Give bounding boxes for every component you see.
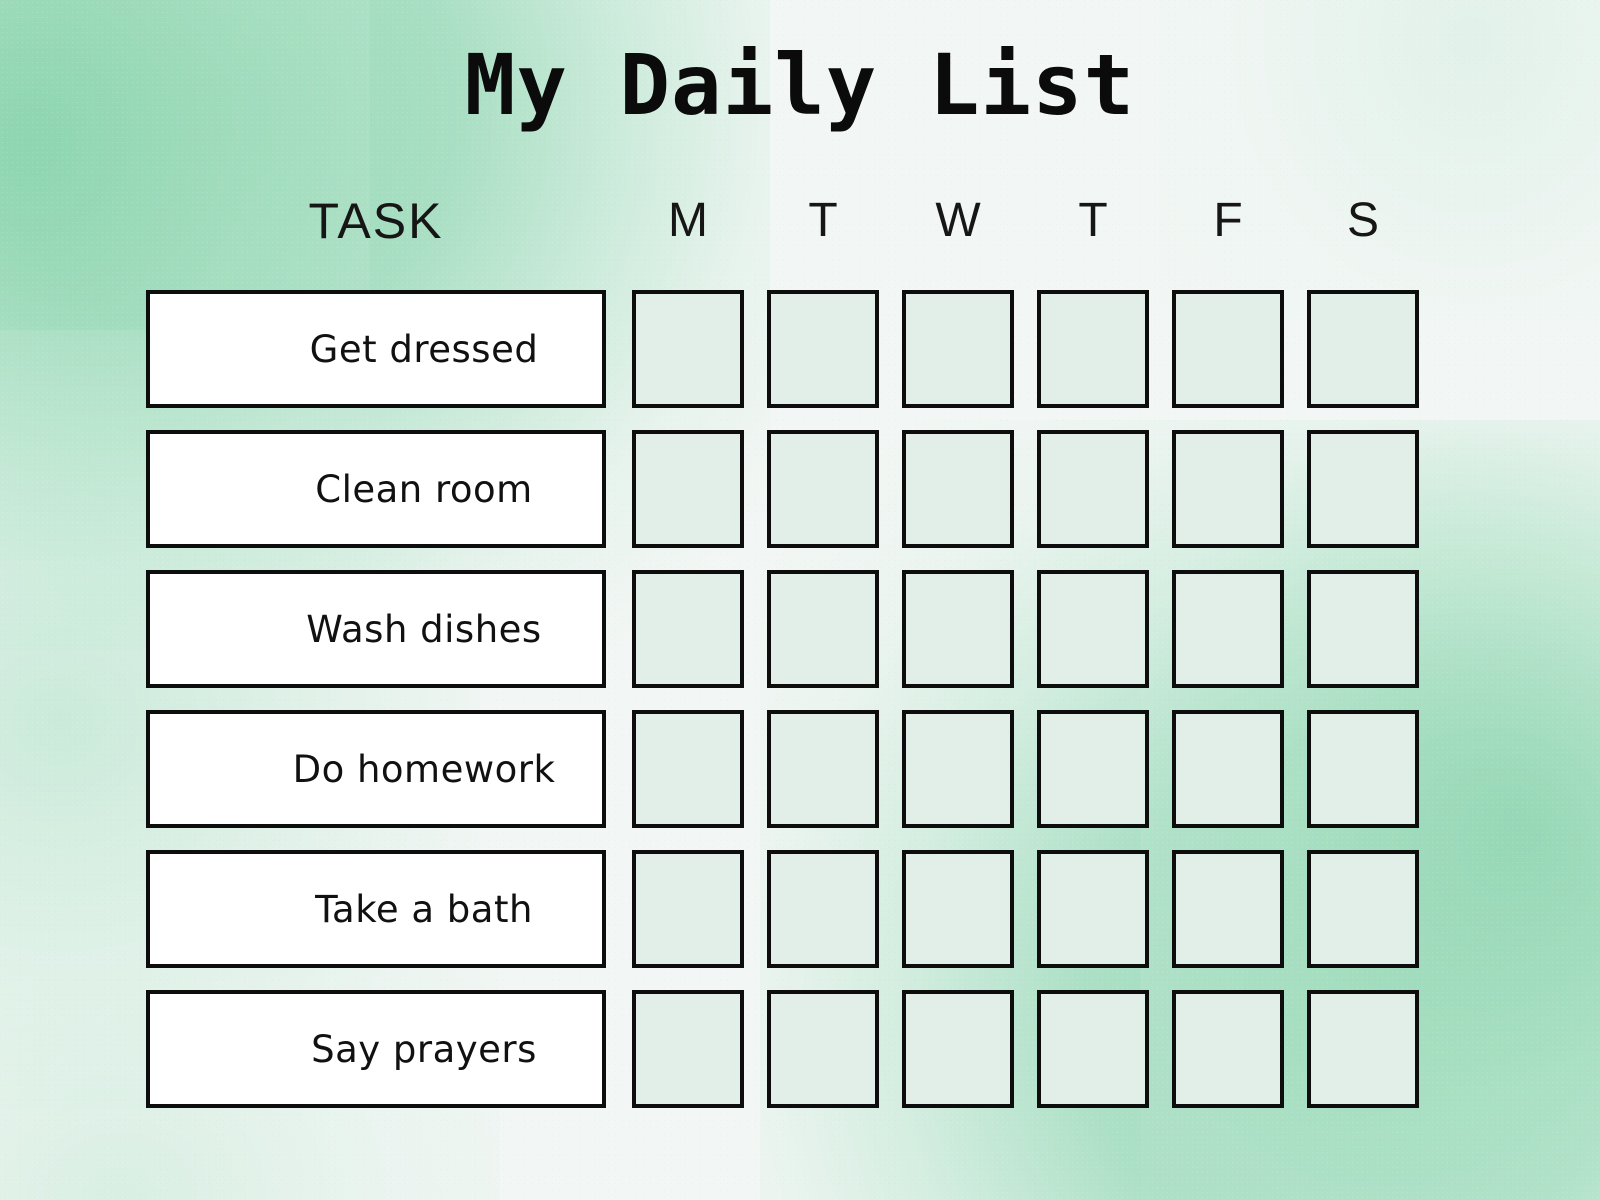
checkbox-cell[interactable]	[767, 570, 879, 688]
checkbox-cell[interactable]	[632, 710, 744, 828]
table-header-row: TASK MTWTFS	[146, 192, 1452, 254]
checkbox-cell[interactable]	[1037, 850, 1149, 968]
checkbox-cell[interactable]	[1172, 570, 1284, 688]
checkbox-cell[interactable]	[1037, 570, 1149, 688]
table-row: Do homework	[146, 710, 1452, 828]
checkbox-cell[interactable]	[1307, 430, 1419, 548]
task-name-cell[interactable]: Get dressed	[146, 290, 606, 408]
checkbox-cell[interactable]	[1307, 570, 1419, 688]
checkbox-cell[interactable]	[767, 430, 879, 548]
checkbox-cell[interactable]	[902, 850, 1014, 968]
checkbox-cell[interactable]	[1307, 850, 1419, 968]
checkbox-cell[interactable]	[902, 990, 1014, 1108]
daily-checklist-page: My Daily List TASK MTWTFS Get dressedCle…	[0, 0, 1600, 1200]
checkbox-cell[interactable]	[1037, 290, 1149, 408]
task-label: Say prayers	[215, 1028, 537, 1071]
checkbox-cell[interactable]	[1172, 710, 1284, 828]
checkbox-cell[interactable]	[632, 990, 744, 1108]
checkbox-cell[interactable]	[902, 710, 1014, 828]
table-row: Say prayers	[146, 990, 1452, 1108]
checkbox-cell[interactable]	[632, 290, 744, 408]
task-label: Take a bath	[219, 888, 533, 931]
task-label: Do homework	[197, 748, 556, 791]
checkbox-cell[interactable]	[767, 290, 879, 408]
day-header-2: T	[767, 192, 879, 250]
task-name-cell[interactable]: Take a bath	[146, 850, 606, 968]
checkbox-cell[interactable]	[632, 570, 744, 688]
day-header-4: T	[1037, 192, 1149, 250]
checkbox-cell[interactable]	[1172, 850, 1284, 968]
checkbox-cell[interactable]	[767, 850, 879, 968]
task-label: Wash dishes	[210, 608, 541, 651]
checkbox-cell[interactable]	[1037, 990, 1149, 1108]
day-header-6: S	[1307, 192, 1419, 250]
task-name-cell[interactable]: Wash dishes	[146, 570, 606, 688]
checkbox-cell[interactable]	[1172, 990, 1284, 1108]
task-label: Clean room	[219, 468, 532, 511]
table-row: Take a bath	[146, 850, 1452, 968]
day-header-5: F	[1172, 192, 1284, 250]
checkbox-cell[interactable]	[767, 990, 879, 1108]
table-row: Get dressed	[146, 290, 1452, 408]
checkbox-cell[interactable]	[1037, 710, 1149, 828]
checkbox-cell[interactable]	[1307, 990, 1419, 1108]
checkbox-cell[interactable]	[632, 430, 744, 548]
day-header-1: M	[632, 192, 744, 250]
checkbox-cell[interactable]	[902, 430, 1014, 548]
task-name-cell[interactable]: Do homework	[146, 710, 606, 828]
content-layer: My Daily List TASK MTWTFS Get dressedCle…	[0, 0, 1600, 1200]
task-label: Get dressed	[214, 328, 539, 371]
task-column-header: TASK	[146, 192, 606, 250]
task-name-cell[interactable]: Clean room	[146, 430, 606, 548]
checkbox-cell[interactable]	[902, 290, 1014, 408]
task-name-cell[interactable]: Say prayers	[146, 990, 606, 1108]
checkbox-cell[interactable]	[1172, 290, 1284, 408]
checkbox-cell[interactable]	[1172, 430, 1284, 548]
checkbox-cell[interactable]	[1307, 710, 1419, 828]
table-row: Clean room	[146, 430, 1452, 548]
checkbox-cell[interactable]	[767, 710, 879, 828]
checkbox-cell[interactable]	[1037, 430, 1149, 548]
page-title: My Daily List	[0, 36, 1600, 134]
day-header-3: W	[902, 192, 1014, 250]
checkbox-cell[interactable]	[902, 570, 1014, 688]
checkbox-cell[interactable]	[1307, 290, 1419, 408]
checkbox-cell[interactable]	[632, 850, 744, 968]
table-row: Wash dishes	[146, 570, 1452, 688]
